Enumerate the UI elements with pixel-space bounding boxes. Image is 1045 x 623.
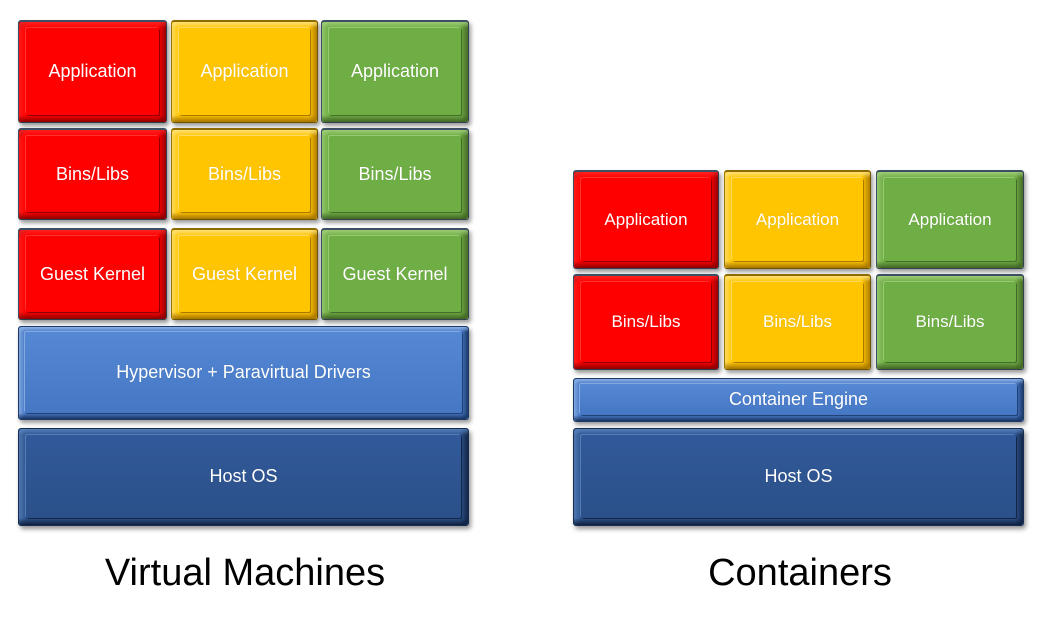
- container-box-application-green[interactable]: Application: [876, 170, 1024, 269]
- box-label: Guest Kernel: [36, 265, 149, 285]
- virtual-machines-diagram: Application Application Application Bins…: [0, 0, 490, 623]
- box-label: Bins/Libs: [608, 313, 685, 332]
- vm-box-hypervisor[interactable]: Hypervisor + Paravirtual Drivers: [18, 326, 469, 420]
- box-label: Bins/Libs: [204, 165, 285, 185]
- vm-box-binslibs-green[interactable]: Bins/Libs: [321, 128, 469, 220]
- box-label: Hypervisor + Paravirtual Drivers: [112, 363, 375, 383]
- container-box-application-red[interactable]: Application: [573, 170, 719, 269]
- vm-box-guestkernel-green[interactable]: Guest Kernel: [321, 228, 469, 320]
- vm-box-application-red[interactable]: Application: [18, 20, 167, 123]
- vm-box-guestkernel-yellow[interactable]: Guest Kernel: [171, 228, 318, 320]
- box-label: Guest Kernel: [188, 265, 301, 285]
- vm-box-application-green[interactable]: Application: [321, 20, 469, 123]
- container-box-application-yellow[interactable]: Application: [724, 170, 871, 269]
- container-box-binslibs-green[interactable]: Bins/Libs: [876, 274, 1024, 370]
- box-label: Bins/Libs: [354, 165, 435, 185]
- container-box-container-engine[interactable]: Container Engine: [573, 378, 1024, 422]
- box-label: Container Engine: [725, 390, 872, 410]
- box-label: Application: [904, 211, 995, 230]
- box-label: Application: [600, 211, 691, 230]
- vm-box-binslibs-yellow[interactable]: Bins/Libs: [171, 128, 318, 220]
- box-label: Bins/Libs: [912, 313, 989, 332]
- containers-diagram: Application Application Application Bins…: [555, 0, 1045, 623]
- containers-caption: Containers: [555, 552, 1045, 595]
- box-label: Bins/Libs: [52, 165, 133, 185]
- box-label: Host OS: [205, 467, 281, 487]
- vm-box-guestkernel-red[interactable]: Guest Kernel: [18, 228, 167, 320]
- vm-box-host-os[interactable]: Host OS: [18, 428, 469, 526]
- box-label: Application: [347, 62, 443, 82]
- box-label: Host OS: [760, 467, 836, 487]
- container-box-binslibs-red[interactable]: Bins/Libs: [573, 274, 719, 370]
- box-label: Application: [196, 62, 292, 82]
- box-label: Application: [752, 211, 843, 230]
- vm-box-binslibs-red[interactable]: Bins/Libs: [18, 128, 167, 220]
- box-label: Application: [44, 62, 140, 82]
- virtual-machines-caption: Virtual Machines: [0, 552, 490, 595]
- box-label: Bins/Libs: [759, 313, 836, 332]
- diagram-canvas: Application Application Application Bins…: [0, 0, 1045, 623]
- vm-box-application-yellow[interactable]: Application: [171, 20, 318, 123]
- container-box-host-os[interactable]: Host OS: [573, 428, 1024, 526]
- container-box-binslibs-yellow[interactable]: Bins/Libs: [724, 274, 871, 370]
- box-label: Guest Kernel: [338, 265, 451, 285]
